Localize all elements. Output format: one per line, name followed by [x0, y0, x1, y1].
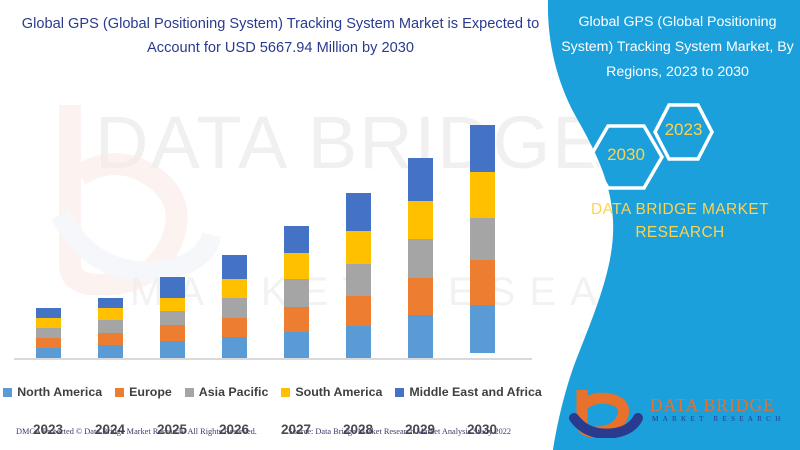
panel-brand-line1: DATA BRIDGE MARKET — [560, 198, 800, 221]
data-bridge-mark-icon — [568, 390, 646, 438]
segment-middle-east-and-africa[interactable] — [36, 308, 61, 318]
hexagon-group: 2030 2023 — [560, 88, 800, 193]
segment-europe[interactable] — [470, 260, 495, 305]
segment-middle-east-and-africa[interactable] — [284, 226, 309, 253]
segment-asia-pacific[interactable] — [284, 279, 309, 307]
legend-item-south-america[interactable]: South America — [281, 385, 382, 399]
legend-swatch-south-america — [281, 388, 290, 397]
segment-europe[interactable] — [284, 307, 309, 332]
segment-asia-pacific[interactable] — [160, 311, 185, 325]
segment-south-america[interactable] — [222, 279, 247, 298]
legend-item-middle-east-and-africa[interactable]: Middle East and Africa — [395, 385, 541, 399]
bar-2029[interactable] — [408, 158, 433, 358]
segment-south-america[interactable] — [470, 172, 495, 218]
bar-2028[interactable] — [346, 193, 371, 358]
segment-europe[interactable] — [222, 318, 247, 337]
legend-item-europe[interactable]: Europe — [115, 385, 172, 399]
segment-south-america[interactable] — [36, 318, 61, 328]
segment-europe[interactable] — [98, 333, 123, 345]
chart-legend: North America Europe Asia Pacific South … — [0, 385, 545, 399]
footer: DMCA Protected © Data Bridge Market Rese… — [0, 424, 545, 446]
legend-swatch-middle-east-and-africa — [395, 388, 404, 397]
segment-north-america[interactable] — [222, 337, 247, 358]
segment-asia-pacific[interactable] — [408, 239, 433, 278]
page-title: Global GPS (Global Positioning System) T… — [18, 12, 543, 60]
bar-2030[interactable] — [470, 125, 495, 353]
data-bridge-logo: DATA BRIDGE MARKET RESEARCH — [568, 390, 798, 440]
legend-label-south-america: South America — [295, 385, 382, 399]
panel-brand: DATA BRIDGE MARKET RESEARCH — [560, 198, 800, 244]
segment-north-america[interactable] — [284, 332, 309, 358]
segment-asia-pacific[interactable] — [98, 320, 123, 333]
segment-middle-east-and-africa[interactable] — [222, 255, 247, 279]
segment-europe[interactable] — [160, 325, 185, 341]
stacked-bar-chart: 2023 2024 2025 2026 2027 2028 2029 2030 — [0, 60, 545, 360]
segment-middle-east-and-africa[interactable] — [470, 125, 495, 172]
segment-north-america[interactable] — [346, 326, 371, 358]
logo-subwordmark: MARKET RESEARCH — [652, 415, 785, 423]
segment-middle-east-and-africa[interactable] — [98, 298, 123, 308]
segment-north-america[interactable] — [98, 345, 123, 358]
segment-middle-east-and-africa[interactable] — [160, 277, 185, 298]
segment-asia-pacific[interactable] — [36, 328, 61, 338]
segment-europe[interactable] — [346, 296, 371, 326]
logo-wordmark: DATA BRIDGE — [650, 395, 775, 416]
legend-label-europe: Europe — [129, 385, 172, 399]
hexagon-shapes-icon — [560, 88, 800, 193]
segment-south-america[interactable] — [284, 253, 309, 279]
legend-item-north-america[interactable]: North America — [3, 385, 102, 399]
segment-south-america[interactable] — [408, 201, 433, 239]
bar-2027[interactable] — [284, 226, 309, 358]
infographic-canvas: DATA BRIDGE MARKET RESEARCH Global GPS (… — [0, 0, 800, 450]
segment-south-america[interactable] — [346, 231, 371, 264]
bar-2025[interactable] — [160, 277, 185, 358]
segment-south-america[interactable] — [160, 298, 185, 311]
legend-label-north-america: North America — [17, 385, 102, 399]
legend-item-asia-pacific[interactable]: Asia Pacific — [185, 385, 269, 399]
hexagon-label-2023: 2023 — [655, 120, 712, 140]
segment-asia-pacific[interactable] — [222, 298, 247, 318]
legend-label-asia-pacific: Asia Pacific — [199, 385, 269, 399]
footer-source-text: Source: Data Bridge Market Research Mark… — [288, 427, 511, 436]
segment-north-america[interactable] — [408, 315, 433, 358]
segment-south-america[interactable] — [98, 308, 123, 320]
panel-content: Global GPS (Global Positioning System) T… — [560, 0, 800, 450]
segment-asia-pacific[interactable] — [346, 264, 371, 296]
x-axis-line — [14, 358, 532, 360]
hexagon-label-2030: 2030 — [590, 145, 662, 165]
footer-dmca-text: DMCA Protected © Data Bridge Market Rese… — [16, 427, 257, 436]
legend-label-middle-east-and-africa: Middle East and Africa — [409, 385, 541, 399]
segment-middle-east-and-africa[interactable] — [408, 158, 433, 201]
bar-2026[interactable] — [222, 255, 247, 358]
bar-2024[interactable] — [98, 298, 123, 358]
panel-title: Global GPS (Global Positioning System) T… — [555, 10, 800, 85]
legend-swatch-europe — [115, 388, 124, 397]
legend-swatch-north-america — [3, 388, 12, 397]
segment-north-america[interactable] — [36, 348, 61, 358]
segment-europe[interactable] — [408, 278, 433, 315]
segment-europe[interactable] — [36, 338, 61, 348]
segment-north-america[interactable] — [160, 341, 185, 358]
segment-north-america[interactable] — [470, 305, 495, 353]
segment-middle-east-and-africa[interactable] — [346, 193, 371, 231]
segment-asia-pacific[interactable] — [470, 218, 495, 260]
bar-2023[interactable] — [36, 308, 61, 358]
legend-swatch-asia-pacific — [185, 388, 194, 397]
panel-brand-line2: RESEARCH — [560, 221, 800, 244]
